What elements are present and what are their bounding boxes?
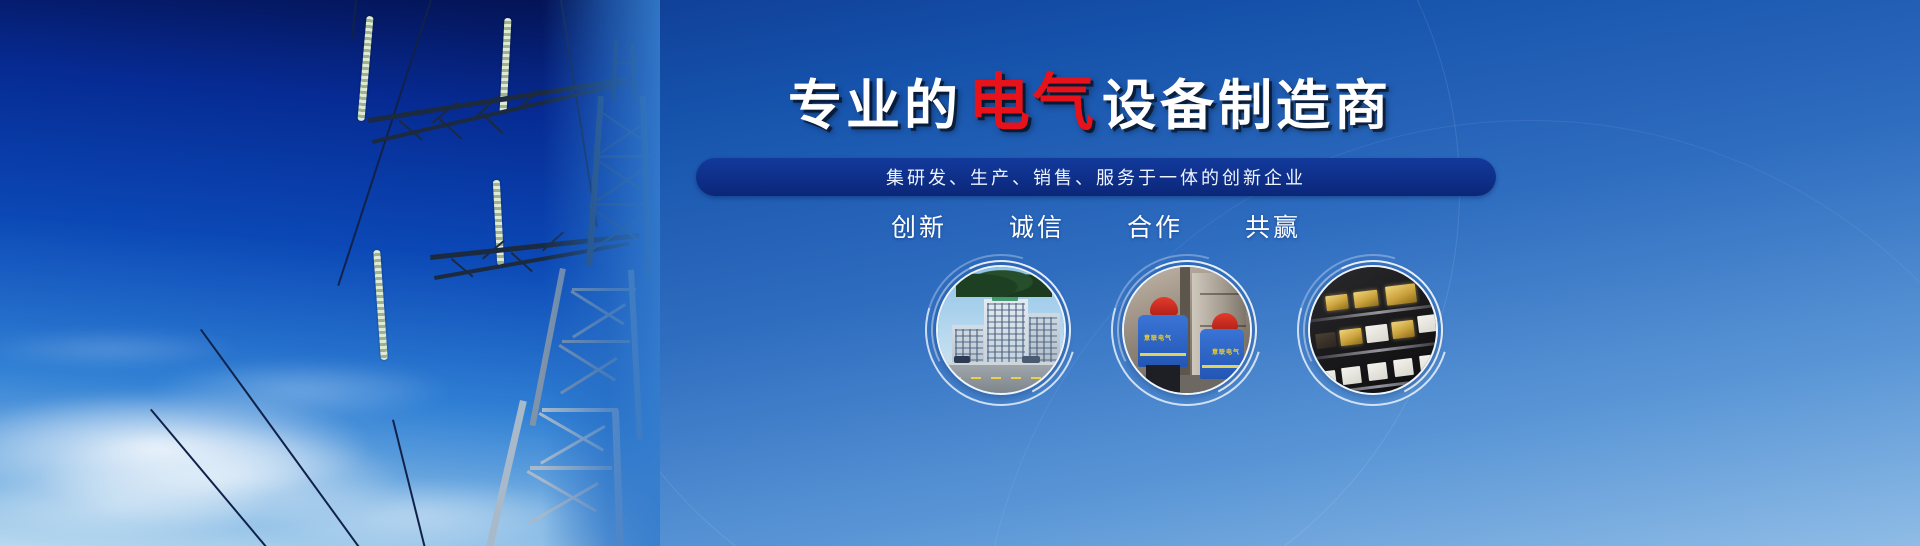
headline-part-1: 专业的: [788, 74, 962, 137]
insulator-string: [357, 16, 373, 121]
circle-certificate-wall: [1308, 265, 1438, 395]
workers-photo: 意联电气 意联电气: [1122, 265, 1252, 395]
building-photo: [936, 265, 1066, 395]
keyword-row: 创新 诚信 合作 共赢: [696, 208, 1496, 244]
banner-content: 专业的电气设备制造商 集研发、生产、销售、服务于一体的创新企业 创新 诚信 合作…: [660, 0, 1920, 546]
circle-workers-cabinet: 意联电气 意联电气: [1122, 265, 1252, 395]
certificates-photo: [1308, 265, 1438, 395]
tree-foliage: [956, 265, 1052, 297]
page-title: 专业的电气设备制造商: [660, 72, 1520, 134]
road: [938, 365, 1064, 393]
keyword-innovation: 创新: [891, 208, 947, 244]
uniform-logo-right: 意联电气: [1212, 347, 1240, 356]
pylon-structure: [0, 0, 660, 546]
insulator-string: [373, 250, 388, 360]
photo-circle-group: 意联电气 意联电气: [660, 255, 1520, 435]
uniform-logo-left: 意联电气: [1144, 333, 1172, 342]
headline-part-2: 设备制造商: [1102, 74, 1392, 137]
subtitle-pill: 集研发、生产、销售、服务于一体的创新企业: [696, 158, 1496, 196]
headline-highlight: 电气: [962, 66, 1102, 139]
transmission-tower-photo: [0, 0, 660, 546]
keyword-winwin: 共赢: [1245, 208, 1301, 244]
circle-office-building: [936, 265, 1066, 395]
promo-banner: 专业的电气设备制造商 集研发、生产、销售、服务于一体的创新企业 创新 诚信 合作…: [0, 0, 1920, 546]
subtitle-text: 集研发、生产、销售、服务于一体的创新企业: [886, 164, 1306, 190]
keyword-cooperation: 合作: [1127, 208, 1183, 244]
keyword-integrity: 诚信: [1009, 208, 1065, 244]
